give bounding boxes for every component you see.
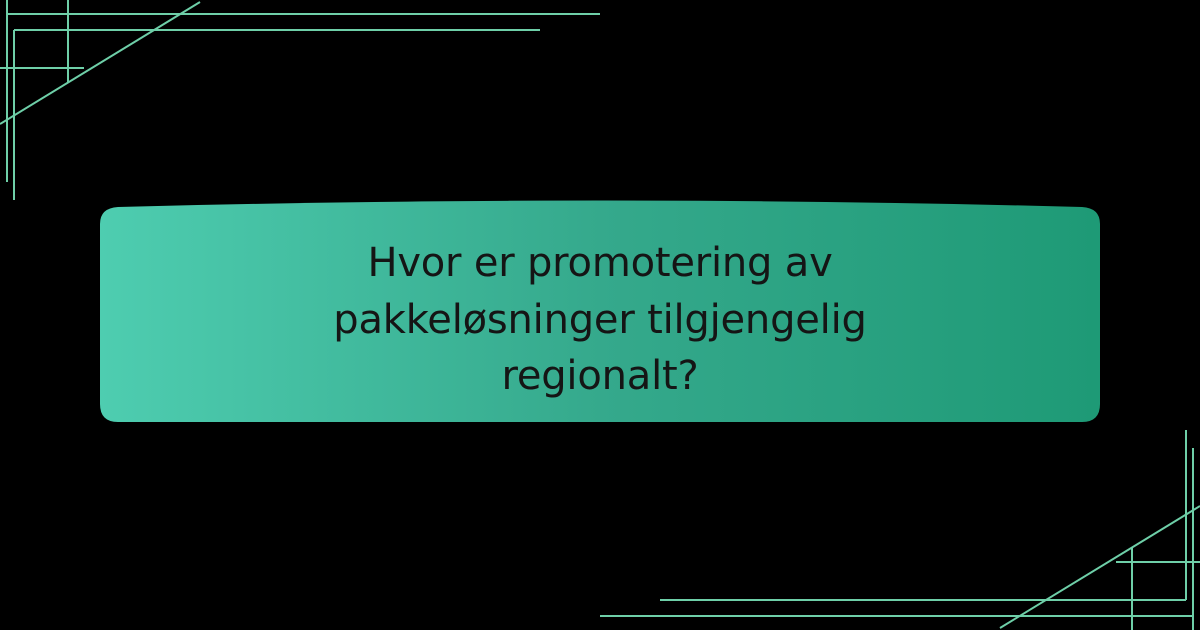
- tl-diagonal: [0, 2, 200, 124]
- br-diagonal: [1000, 506, 1200, 628]
- poster-canvas: Hvor er promotering av pakkeløsninger ti…: [0, 0, 1200, 630]
- corner-lines-bottom-right: [600, 430, 1200, 630]
- card-text-area: Hvor er promotering av pakkeløsninger ti…: [100, 198, 1100, 428]
- question-headline: Hvor er promotering av pakkeløsninger ti…: [240, 235, 960, 405]
- corner-lines-top-left: [0, 0, 600, 200]
- question-card: Hvor er promotering av pakkeløsninger ti…: [100, 198, 1100, 428]
